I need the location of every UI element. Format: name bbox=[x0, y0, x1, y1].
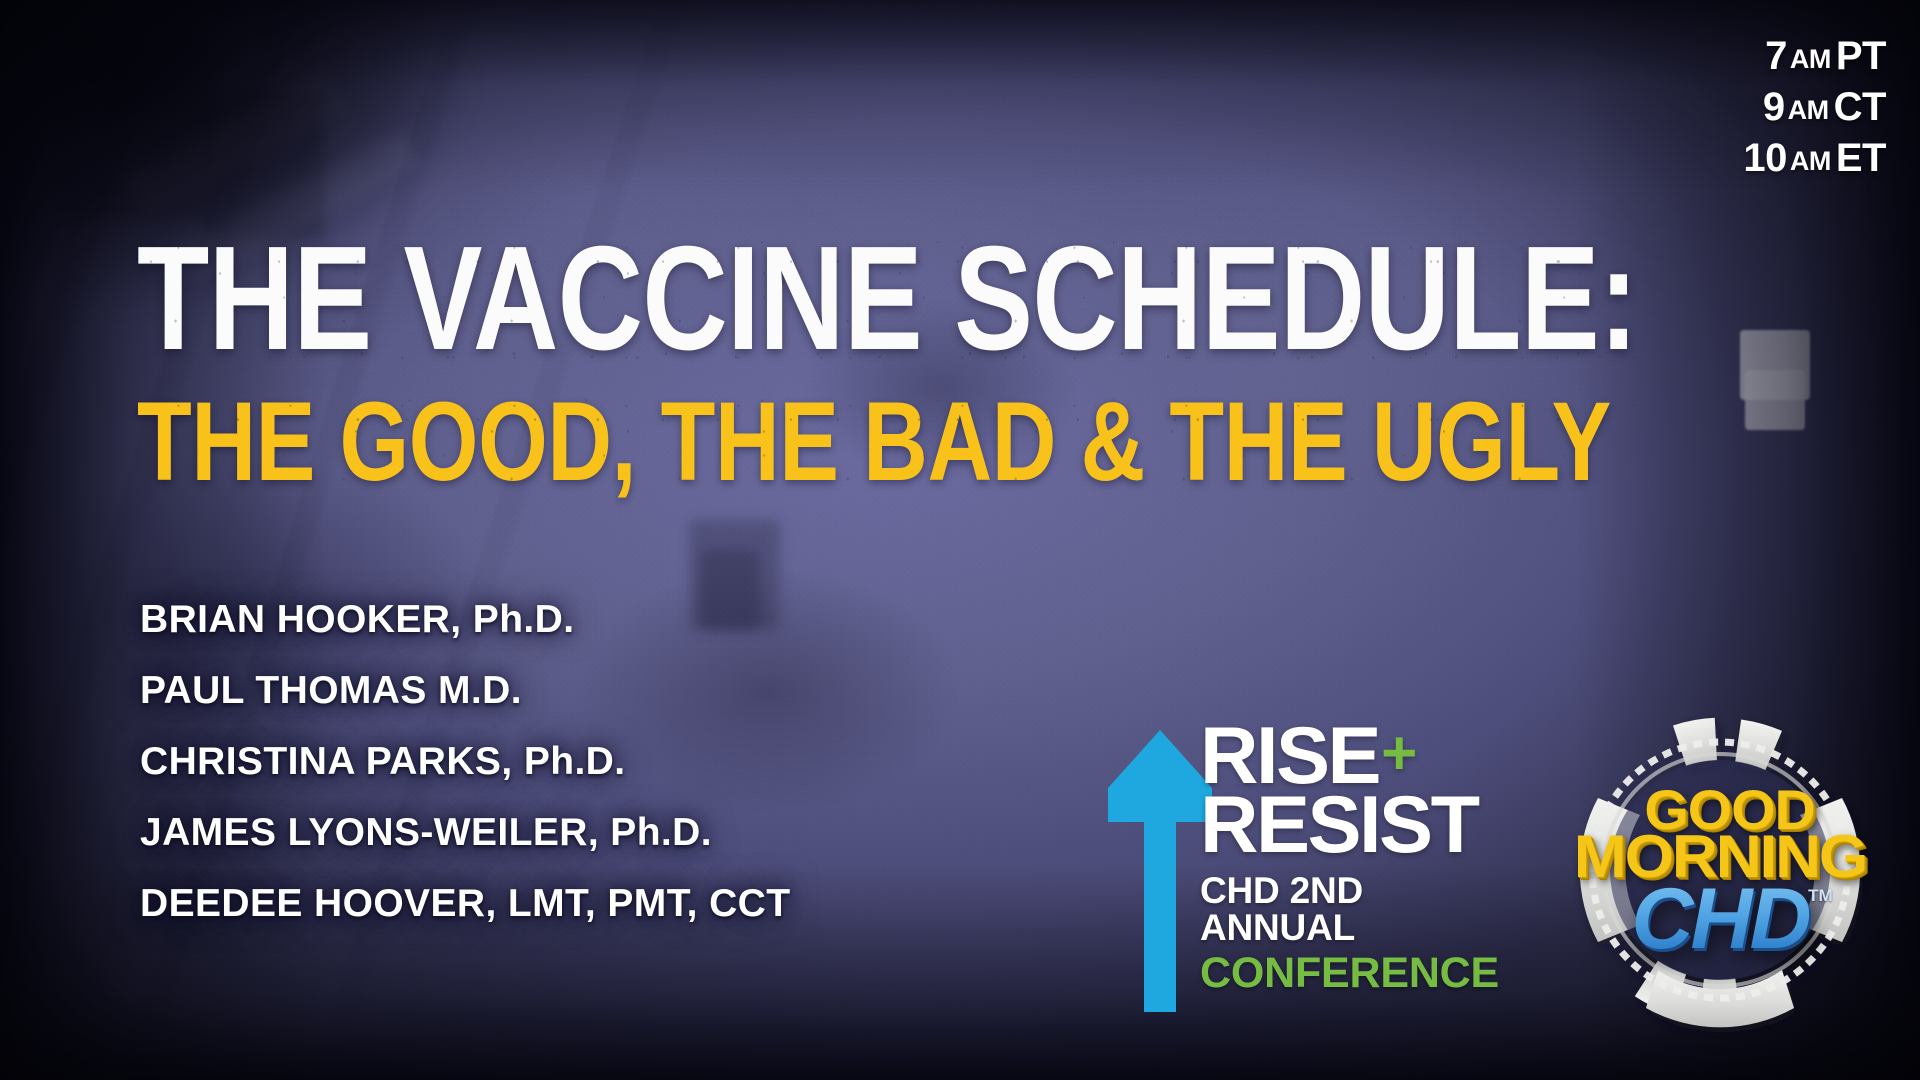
page-subtitle: THE GOOD, THE BAD & THE UGLY bbox=[137, 386, 1638, 498]
conference-label-2: CONFERENCE bbox=[1200, 952, 1510, 995]
promo-poster: 7AMPT 9AMCT 10AMET THE VACCINE SCHEDULE:… bbox=[0, 0, 1920, 1080]
speaker-list: BRIAN HOOKER, Ph.D. PAUL THOMAS M.D. CHR… bbox=[140, 600, 790, 923]
gmchd-chd-wrap: CHD TM bbox=[1631, 880, 1808, 959]
up-arrow-icon bbox=[1108, 730, 1212, 1012]
trademark-icon: TM bbox=[1808, 886, 1833, 906]
conference-label-1: CHD 2ND ANNUAL bbox=[1200, 872, 1510, 946]
gmchd-wordmark: GOOD MORNING CHD TM bbox=[1520, 690, 1920, 1050]
rise-resist-logo: RISE + RESIST CHD 2ND ANNUAL CONFERENCE bbox=[1108, 722, 1508, 1012]
list-item: BRIAN HOOKER, Ph.D. bbox=[140, 600, 790, 639]
list-item: JAMES LYONS-WEILER, Ph.D. bbox=[140, 813, 790, 852]
gmchd-line-chd: CHD bbox=[1631, 871, 1808, 967]
time-hour-pt: 7 bbox=[1765, 34, 1787, 78]
good-morning-chd-logo: GOOD MORNING CHD TM bbox=[1520, 690, 1920, 1050]
time-hour-et: 10 bbox=[1743, 136, 1787, 180]
list-item: DEEDEE HOOVER, LMT, PMT, CCT bbox=[140, 884, 790, 923]
time-zone-ct: CT bbox=[1834, 85, 1886, 129]
time-hour-ct: 9 bbox=[1763, 85, 1785, 129]
title-block: THE VACCINE SCHEDULE: THE GOOD, THE BAD … bbox=[137, 228, 1920, 498]
resist-word: RESIST bbox=[1200, 787, 1510, 863]
time-zone-et: ET bbox=[1836, 136, 1886, 180]
time-ampm-pt: AM bbox=[1790, 44, 1831, 74]
time-row-et: 10AMET bbox=[1743, 138, 1886, 178]
time-row-pt: 7AMPT bbox=[1743, 36, 1886, 76]
broadcast-times: 7AMPT 9AMCT 10AMET bbox=[1743, 36, 1886, 189]
time-row-ct: 9AMCT bbox=[1743, 87, 1886, 127]
time-ampm-et: AM bbox=[1790, 146, 1831, 176]
time-ampm-ct: AM bbox=[1788, 95, 1829, 125]
page-title: THE VACCINE SCHEDULE: bbox=[137, 228, 1638, 370]
plus-icon: + bbox=[1381, 728, 1415, 780]
rise-resist-wordmark: RISE + RESIST CHD 2ND ANNUAL CONFERENCE bbox=[1200, 722, 1510, 995]
time-zone-pt: PT bbox=[1836, 34, 1886, 78]
list-item: CHRISTINA PARKS, Ph.D. bbox=[140, 742, 790, 781]
list-item: PAUL THOMAS M.D. bbox=[140, 671, 790, 710]
